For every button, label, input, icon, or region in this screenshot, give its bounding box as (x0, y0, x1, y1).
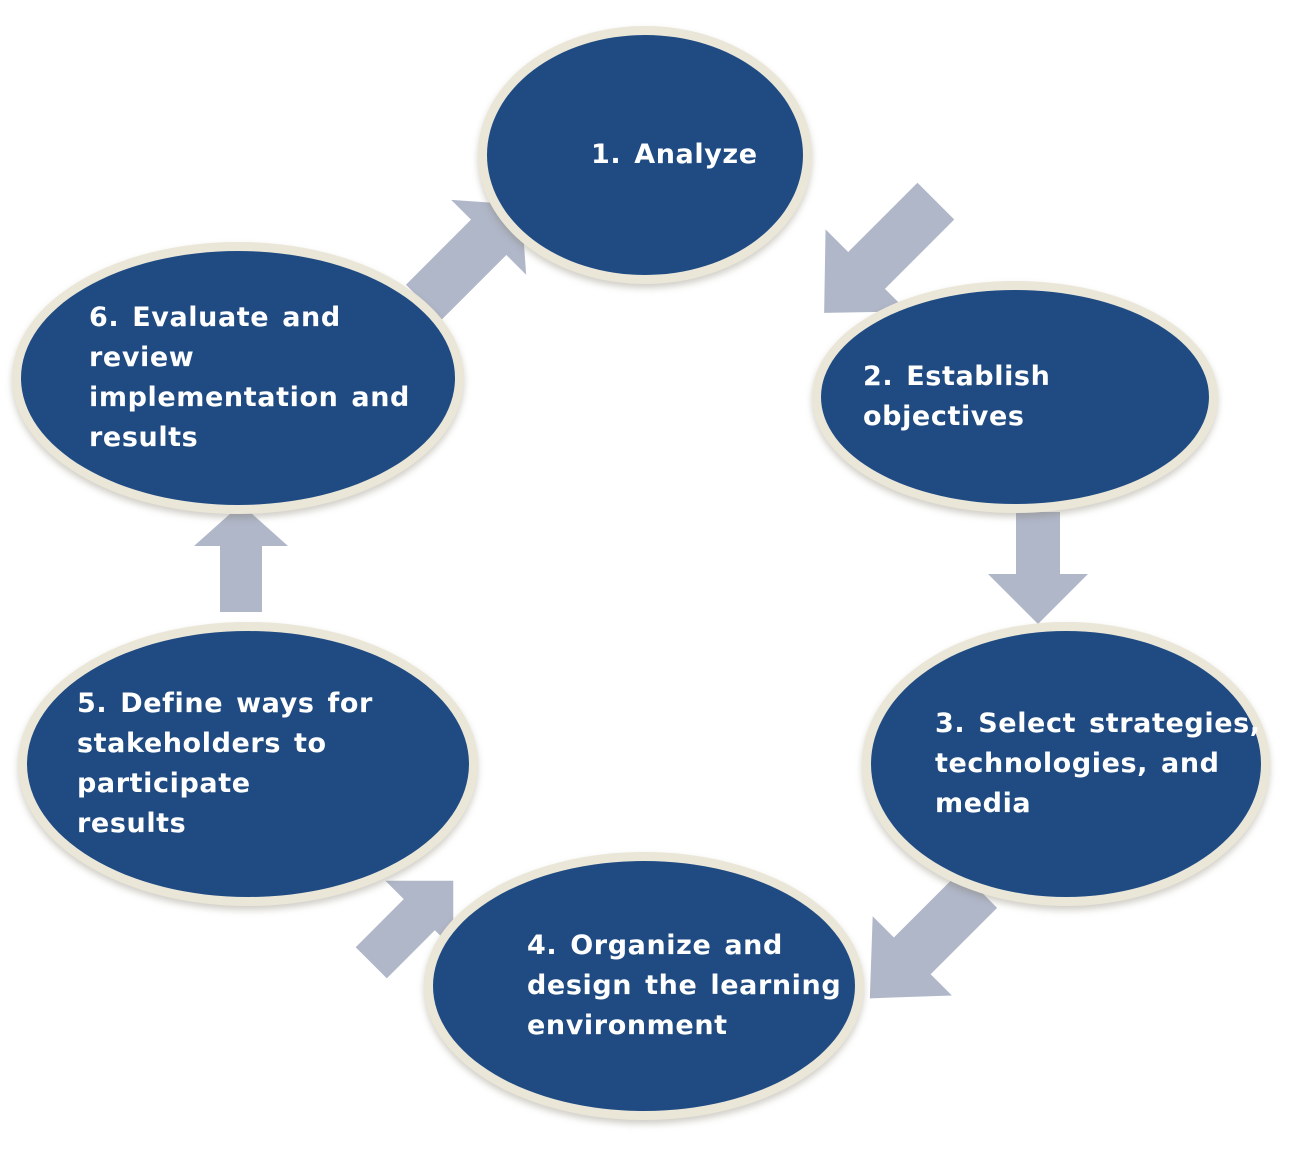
cycle-node-step-2[interactable]: 2. Establish objectives (812, 281, 1218, 513)
cycle-node-step-4[interactable]: 4. Organize and design the learning envi… (424, 852, 864, 1120)
cycle-node-step-5-label: 5. Define ways for stakeholders to parti… (27, 684, 469, 844)
arrow-step5-to-step6 (186, 502, 296, 617)
cycle-node-step-4-label: 4. Organize and design the learning envi… (433, 926, 855, 1046)
cycle-node-step-5[interactable]: 5. Define ways for stakeholders to parti… (18, 622, 478, 906)
arrow-step2-to-step3 (978, 508, 1098, 628)
cycle-node-step-1-label: 1. Analyze (487, 135, 803, 175)
cycle-node-step-2-label: 2. Establish objectives (821, 357, 1209, 437)
cycle-node-step-3-label: 3. Select strategies, technologies, and … (871, 704, 1261, 824)
cycle-node-step-3[interactable]: 3. Select strategies, technologies, and … (862, 622, 1270, 906)
cycle-node-step-6-label: 6. Evaluate and review implementation an… (21, 298, 455, 458)
cycle-node-step-1[interactable]: 1. Analyze (478, 26, 812, 284)
cycle-diagram: 1. Analyze 2. Establish objectives 3. Se… (0, 0, 1290, 1162)
cycle-node-step-6[interactable]: 6. Evaluate and review implementation an… (12, 242, 464, 514)
